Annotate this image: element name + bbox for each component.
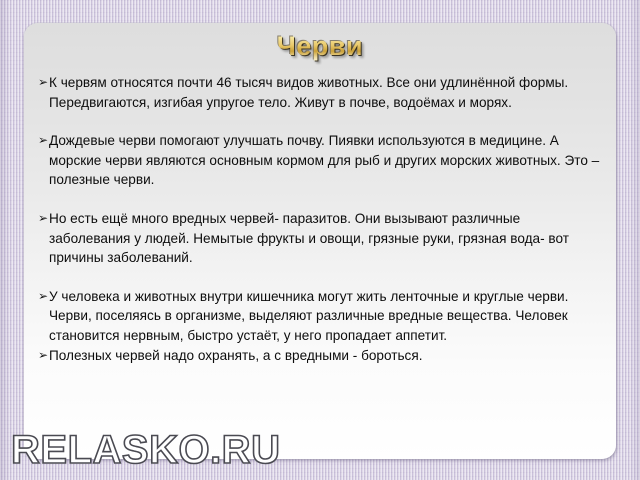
paragraph-text: К червям относятся почти 46 тысяч видов … bbox=[49, 75, 568, 110]
paragraph-text: Но есть ещё много вредных червей- парази… bbox=[49, 211, 569, 265]
presentation-slide: Черви ➢ К червям относятся почти 46 тыся… bbox=[0, 0, 640, 480]
content-panel: Черви ➢ К червям относятся почти 46 тыся… bbox=[24, 23, 616, 459]
paragraph-text: У человека и животных внутри кишечника м… bbox=[49, 289, 568, 343]
bullet-paragraph: ➢ У человека и животных внутри кишечника… bbox=[38, 287, 604, 346]
paragraph-text: Дождевые черви помогают улучшать почву. … bbox=[49, 133, 599, 187]
arrow-bullet-icon: ➢ bbox=[38, 131, 48, 151]
arrow-bullet-icon: ➢ bbox=[38, 287, 48, 307]
slide-title: Черви bbox=[277, 30, 363, 62]
bullet-paragraph: ➢ К червям относятся почти 46 тысяч видо… bbox=[38, 73, 604, 112]
arrow-bullet-icon: ➢ bbox=[38, 209, 48, 229]
bullet-paragraph: ➢ Дождевые черви помогают улучшать почву… bbox=[38, 131, 604, 190]
arrow-bullet-icon: ➢ bbox=[38, 73, 48, 93]
bullet-paragraph: ➢ Полезных червей надо охранять, а с вре… bbox=[38, 346, 604, 366]
title-row: Черви bbox=[24, 30, 616, 62]
arrow-bullet-icon: ➢ bbox=[38, 346, 48, 366]
paragraph-text: Полезных червей надо охранять, а с вредн… bbox=[49, 348, 423, 363]
bullet-paragraph: ➢ Но есть ещё много вредных червей- пара… bbox=[38, 209, 604, 268]
slide-body: ➢ К червям относятся почти 46 тысяч видо… bbox=[38, 73, 604, 365]
